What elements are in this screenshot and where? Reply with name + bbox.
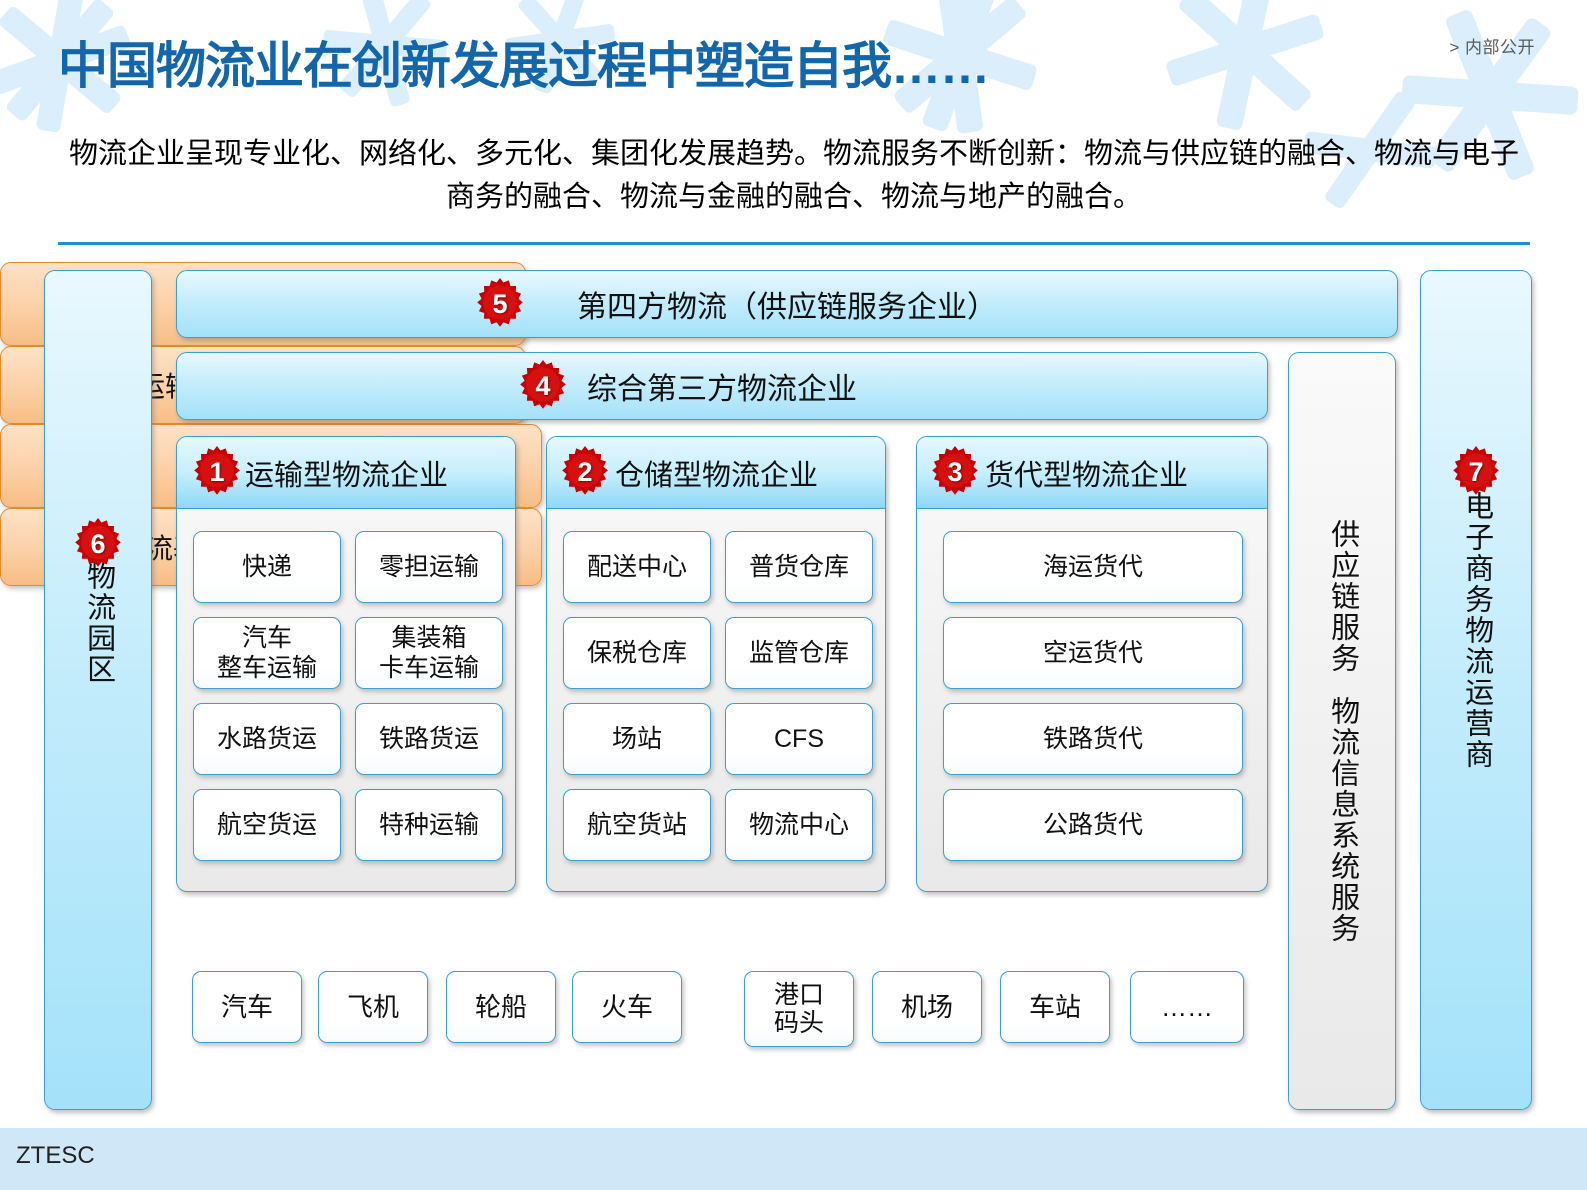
footer-brand: ZTESC — [16, 1142, 95, 1170]
badge-5-number: 5 — [492, 289, 507, 320]
badge-4: 4 — [516, 359, 570, 413]
cell-label: …… — [1161, 992, 1213, 1022]
panel-supply-chain-service-label: 供应链服务 — [1326, 519, 1357, 674]
column-1-title: 运输型物流企业 — [245, 452, 448, 494]
cell-label: 航空货站 — [587, 810, 687, 840]
cell-label: 汽车 整车运输 — [217, 623, 317, 683]
panel-logistics-park[interactable]: 物流园区 — [44, 270, 152, 1110]
cell-express[interactable]: 快递 — [193, 531, 341, 603]
cell-ftl-truck[interactable]: 汽车 整车运输 — [193, 617, 341, 689]
cell-supervised-warehouse[interactable]: 监管仓库 — [725, 617, 873, 689]
badge-6: 6 — [71, 517, 125, 571]
cell-train[interactable]: 火车 — [572, 971, 682, 1043]
badge-2-number: 2 — [577, 457, 592, 488]
cell-label: 铁路货运 — [379, 724, 479, 754]
cell-label: 普货仓库 — [749, 552, 849, 582]
cell-rail-freight[interactable]: 铁路货运 — [355, 703, 503, 775]
cell-label: 保税仓库 — [587, 638, 687, 668]
cell-air-freight[interactable]: 航空货运 — [193, 789, 341, 861]
cell-label: 配送中心 — [587, 552, 687, 582]
column-freight-forwarder-logistics: 货代型物流企业 海运货代 空运货代 铁路货代 公路货代 — [916, 436, 1268, 892]
cell-cfs[interactable]: CFS — [725, 703, 873, 775]
column-2-title: 仓储型物流企业 — [615, 452, 818, 494]
cell-ellipsis[interactable]: …… — [1130, 971, 1244, 1043]
confidentiality-label: > 内部公开 — [1449, 33, 1535, 58]
badge-6-number: 6 — [90, 529, 105, 560]
cell-bonded-warehouse[interactable]: 保税仓库 — [563, 617, 711, 689]
cell-ltl-transport[interactable]: 零担运输 — [355, 531, 503, 603]
cell-label: 轮船 — [475, 992, 527, 1022]
cell-label: 航空货运 — [217, 810, 317, 840]
cell-distribution-center[interactable]: 配送中心 — [563, 531, 711, 603]
cell-airport[interactable]: 机场 — [872, 971, 982, 1043]
slide-canvas: > 内部公开 中国物流业在创新发展过程中塑造自我…… 物流企业呈现专业化、网络化… — [0, 0, 1587, 1190]
cell-rail-forwarding[interactable]: 铁路货代 — [943, 703, 1243, 775]
panel-supply-chain-and-info-service[interactable]: 供应链服务 物流信息系统服务 — [1288, 352, 1396, 1110]
cell-logistics-center[interactable]: 物流中心 — [725, 789, 873, 861]
cell-air-cargo-terminal[interactable]: 航空货站 — [563, 789, 711, 861]
cell-label: 特种运输 — [379, 810, 479, 840]
banner-label-5: 第四方物流（供应链服务企业） — [577, 282, 997, 326]
cell-station[interactable]: 车站 — [1000, 971, 1110, 1043]
panel-logistics-park-label: 物流园区 — [82, 561, 113, 685]
banner-integrated-3pl[interactable]: 综合第三方物流企业 — [176, 352, 1268, 420]
header-divider — [58, 242, 1530, 245]
cell-ocean-forwarding[interactable]: 海运货代 — [943, 531, 1243, 603]
banner-label-4: 综合第三方物流企业 — [587, 364, 857, 408]
panel-ecommerce-logistics-label: 电子商务物流运营商 — [1460, 491, 1491, 770]
cell-label: 空运货代 — [1043, 638, 1143, 668]
badge-3: 3 — [928, 445, 982, 499]
badge-7-number: 7 — [1468, 457, 1483, 488]
slide-footer: ZTESC — [0, 1128, 1587, 1190]
cell-car[interactable]: 汽车 — [192, 971, 302, 1043]
cell-road-forwarding[interactable]: 公路货代 — [943, 789, 1243, 861]
banner-fourth-party-logistics[interactable]: 第四方物流（供应链服务企业） — [176, 270, 1398, 338]
cell-label: 汽车 — [221, 992, 273, 1022]
badge-2: 2 — [558, 445, 612, 499]
cell-label: 港口 码头 — [774, 981, 824, 1037]
cell-waterway-freight[interactable]: 水路货运 — [193, 703, 341, 775]
cell-label: 集装箱 卡车运输 — [379, 623, 479, 683]
cell-label: 火车 — [601, 992, 653, 1022]
cell-special-transport[interactable]: 特种运输 — [355, 789, 503, 861]
badge-3-number: 3 — [947, 457, 962, 488]
logistics-diagram: 第四方物流（供应链服务企业） 5 综合第三方物流企业 4 运输型物流企业 快递 … — [0, 262, 1587, 1122]
cell-label: 铁路货代 — [1043, 724, 1143, 754]
badge-5: 5 — [473, 277, 527, 331]
cell-general-warehouse[interactable]: 普货仓库 — [725, 531, 873, 603]
cell-label: CFS — [774, 724, 824, 754]
panel-ecommerce-logistics-operator[interactable]: 电子商务物流运营商 — [1420, 270, 1532, 1110]
column-3-title: 货代型物流企业 — [985, 452, 1188, 494]
cell-ship[interactable]: 轮船 — [446, 971, 556, 1043]
cell-air-forwarding[interactable]: 空运货代 — [943, 617, 1243, 689]
cell-label: 场站 — [612, 724, 662, 754]
cell-container-truck[interactable]: 集装箱 卡车运输 — [355, 617, 503, 689]
column-warehouse-logistics: 仓储型物流企业 配送中心 普货仓库 保税仓库 监管仓库 场站 CFS 航空货站 … — [546, 436, 886, 892]
cell-label: 飞机 — [347, 992, 399, 1022]
badge-1-number: 1 — [209, 457, 224, 488]
badge-7: 7 — [1449, 445, 1503, 499]
cell-label: 机场 — [901, 992, 953, 1022]
badge-1: 1 — [190, 445, 244, 499]
page-title: 中国物流业在创新发展过程中塑造自我…… — [58, 26, 989, 98]
cell-label: 水路货运 — [217, 724, 317, 754]
cell-label: 快递 — [242, 552, 292, 582]
cell-label: 车站 — [1029, 992, 1081, 1022]
cell-label: 海运货代 — [1043, 552, 1143, 582]
cell-label: 监管仓库 — [749, 638, 849, 668]
cell-label: 物流中心 — [749, 810, 849, 840]
panel-logistics-info-service-label: 物流信息系统服务 — [1326, 696, 1357, 944]
cell-airplane[interactable]: 飞机 — [318, 971, 428, 1043]
cell-port-wharf[interactable]: 港口 码头 — [744, 971, 854, 1047]
badge-4-number: 4 — [535, 371, 550, 402]
column-transport-logistics: 运输型物流企业 快递 零担运输 汽车 整车运输 集装箱 卡车运输 水路货运 铁路… — [176, 436, 516, 892]
cell-yard-station[interactable]: 场站 — [563, 703, 711, 775]
cell-label: 公路货代 — [1043, 810, 1143, 840]
cell-label: 零担运输 — [379, 552, 479, 582]
subtitle-text: 物流企业呈现专业化、网络化、多元化、集团化发展趋势。物流服务不断创新：物流与供应… — [58, 133, 1530, 219]
